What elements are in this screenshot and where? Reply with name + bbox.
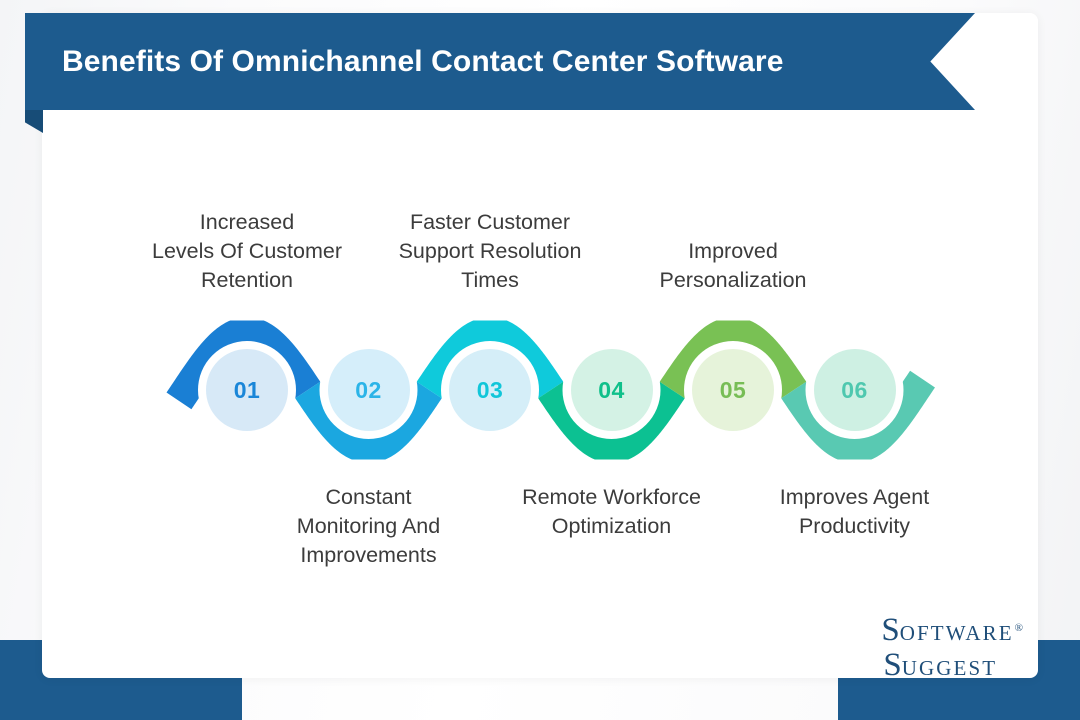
step-label-line: Retention [127,266,367,295]
logo-word1-rest: OFTWARE [900,623,1014,644]
step-number-06: 06 [841,377,868,404]
step-number-04: 04 [598,377,625,404]
step-label-line: Optimization [492,512,732,541]
step-label-line: Improvements [249,541,489,570]
step-circle-02[interactable]: 02 [328,349,410,431]
step-label-04: Remote WorkforceOptimization [492,483,732,541]
step-label-05: ImprovedPersonalization [613,237,853,295]
step-number-01: 01 [234,377,261,404]
step-label-line: Improved [613,237,853,266]
logo-line-1: S OFTWARE ® [881,614,1022,647]
step-label-line: Levels Of Customer [127,237,367,266]
logo-word2-rest: UGGEST [902,658,997,679]
logo-word2-capital: S [883,649,901,682]
step-label-01: IncreasedLevels Of CustomerRetention [127,208,367,295]
step-number-03: 03 [477,377,504,404]
step-label-line: Remote Workforce [492,483,732,512]
logo-word1-capital: S [881,614,899,647]
step-label-line: Monitoring And [249,512,489,541]
step-label-line: Improves Agent [735,483,975,512]
step-label-line: Support Resolution [370,237,610,266]
step-circle-04[interactable]: 04 [571,349,653,431]
step-circle-06[interactable]: 06 [814,349,896,431]
logo-line-2: S UGGEST [883,649,1022,682]
step-label-line: Constant [249,483,489,512]
step-circle-05[interactable]: 05 [692,349,774,431]
step-circle-01[interactable]: 01 [206,349,288,431]
step-label-line: Times [370,266,610,295]
step-label-line: Increased [127,208,367,237]
step-circle-03[interactable]: 03 [449,349,531,431]
flow-wave [0,0,1080,720]
step-label-06: Improves AgentProductivity [735,483,975,541]
registered-trademark-icon: ® [1015,623,1023,634]
infographic-canvas: Benefits Of Omnichannel Contact Center S… [0,0,1080,720]
step-label-03: Faster CustomerSupport ResolutionTimes [370,208,610,295]
step-label-line: Personalization [613,266,853,295]
step-number-05: 05 [720,377,747,404]
step-label-line: Productivity [735,512,975,541]
step-label-02: ConstantMonitoring AndImprovements [249,483,489,570]
softwaresuggest-logo: S OFTWARE ® S UGGEST [881,614,1022,682]
step-number-02: 02 [355,377,382,404]
step-label-line: Faster Customer [370,208,610,237]
